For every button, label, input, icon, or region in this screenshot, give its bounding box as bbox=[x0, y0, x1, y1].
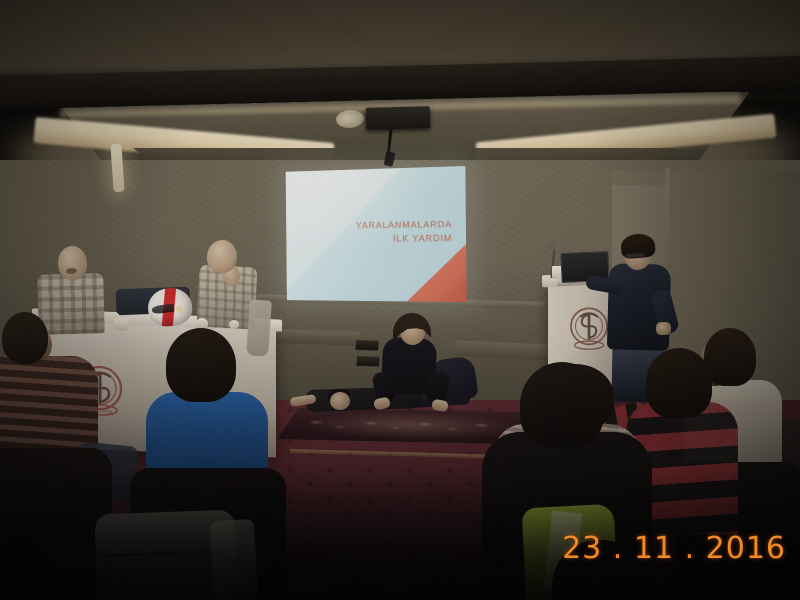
wall-plate-lower bbox=[356, 356, 380, 368]
training-prop-cup bbox=[114, 318, 129, 331]
floor-shadow-gradient bbox=[0, 470, 800, 600]
ceiling-projector bbox=[366, 106, 431, 130]
helmet-badge-icon bbox=[176, 306, 183, 313]
projector-hotspot bbox=[286, 166, 429, 255]
cpr-mannequin-plaid-shirt bbox=[37, 273, 105, 335]
draped-cloth bbox=[246, 299, 272, 356]
attendee-striped-sweater-head bbox=[2, 312, 48, 364]
wall-plate-upper bbox=[355, 340, 379, 352]
eyeglasses-icon bbox=[625, 252, 645, 258]
training-seminar-photo: YARALANMALARDA İLK YARDIM ILK YARDIM bbox=[0, 0, 800, 600]
training-prop-bowl bbox=[196, 318, 208, 328]
attendee-rugby-head bbox=[646, 348, 712, 418]
training-prop-small bbox=[229, 320, 239, 329]
attendee-blue-shirt-head bbox=[166, 328, 236, 402]
presenter-hand bbox=[656, 322, 671, 335]
attendee-cream-shirt-head bbox=[704, 328, 756, 386]
attendee-foreground-dark-head bbox=[520, 362, 604, 448]
microphone-icon bbox=[546, 243, 557, 250]
projection-screen: YARALANMALARDA İLK YARDIM bbox=[286, 166, 467, 302]
